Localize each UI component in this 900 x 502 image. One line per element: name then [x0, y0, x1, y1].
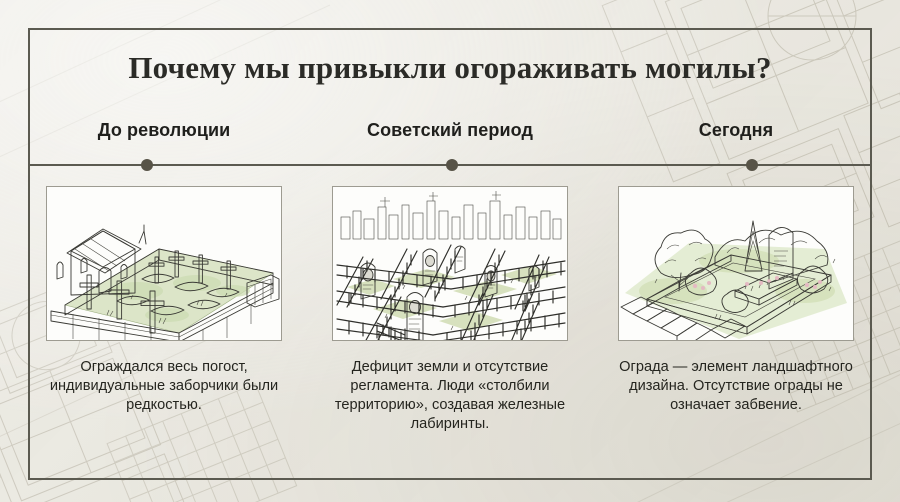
illustration-churchyard — [46, 186, 282, 341]
page-title: Почему мы привыкли огораживать могилы? — [0, 50, 900, 86]
column-pre-revolution: До революции — [30, 118, 298, 434]
illustration-fence-maze — [332, 186, 568, 341]
column-caption-pre-revolution: Ограждался весь погост, индивидуальные з… — [33, 358, 295, 415]
column-heading-today: Сегодня — [699, 118, 774, 142]
column-today: Сегодня — [602, 118, 870, 434]
illustration-landscaped-grave — [618, 186, 854, 341]
column-heading-pre-revolution: До революции — [98, 118, 231, 142]
column-caption-today: Ограда — элемент ландшафтного дизайна. О… — [605, 358, 867, 415]
columns-container: До революции — [30, 118, 870, 434]
column-caption-soviet-period: Дефицит земли и отсутствие регламента. Л… — [319, 358, 581, 434]
column-soviet-period: Советский период — [316, 118, 584, 434]
column-heading-soviet-period: Советский период — [367, 118, 533, 142]
